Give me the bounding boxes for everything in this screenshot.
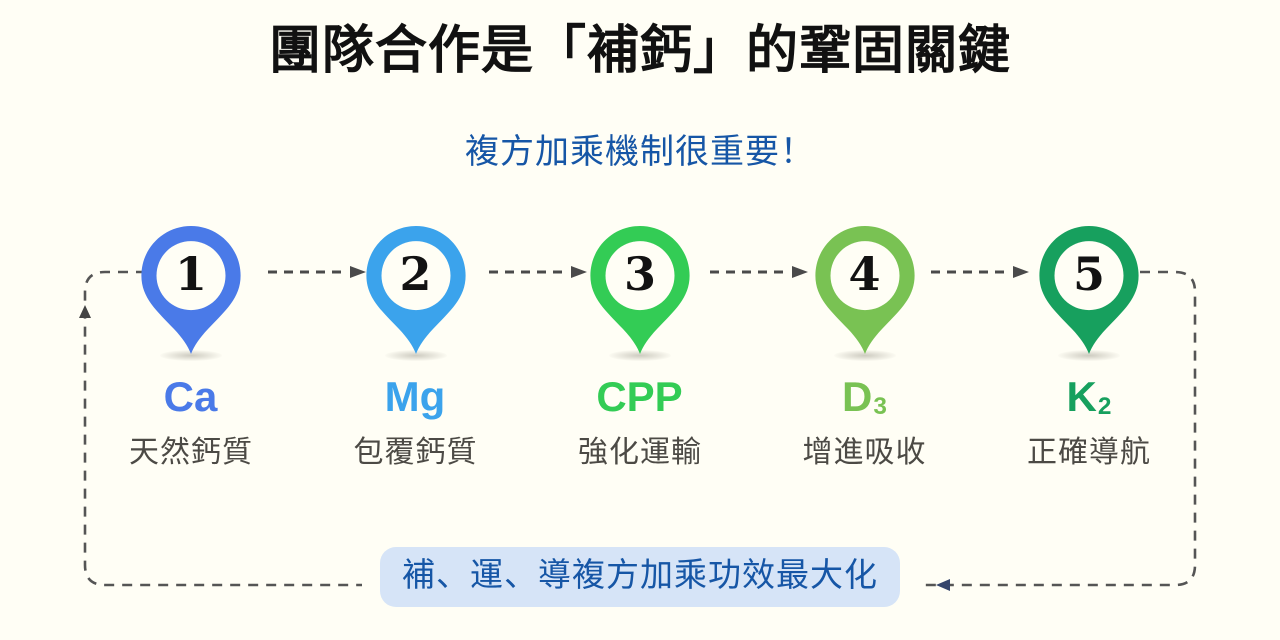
steps-row: 1 Ca 天然鈣質 2 Mg 包覆鈣質 (96, 222, 1184, 512)
nutrient-description-4: 增進吸收 (803, 438, 927, 468)
symbol-subscript: 2 (1098, 393, 1112, 420)
step-item-3[interactable]: 3 CPP 強化運輸 (545, 222, 735, 468)
step-item-5[interactable]: 5 K2 正確導航 (994, 222, 1184, 468)
map-pin-2[interactable]: 2 (361, 222, 471, 362)
nutrient-description-1: 天然鈣質 (129, 438, 253, 468)
nutrient-symbol-1: Ca (164, 376, 219, 418)
step-item-2[interactable]: 2 Mg 包覆鈣質 (321, 222, 511, 468)
nutrient-symbol-2: Mg (385, 376, 447, 418)
symbol-text: D (842, 373, 872, 420)
pin-number-label: 2 (361, 222, 471, 326)
nutrient-description-2: 包覆鈣質 (354, 438, 478, 468)
infographic-canvas: 團隊合作是「補鈣」的鞏固關鍵 複方加乘機制很重要！ (0, 0, 1280, 640)
pin-number-label: 1 (136, 222, 246, 326)
loop-left-arrowhead-up (79, 305, 91, 318)
page-subtitle: 複方加乘機制很重要！ (0, 124, 1280, 173)
nutrient-symbol-5: K2 (1067, 376, 1112, 418)
nutrient-symbol-4: D3 (842, 376, 887, 418)
nutrient-symbol-3: CPP (596, 376, 683, 418)
step-item-1[interactable]: 1 Ca 天然鈣質 (96, 222, 286, 468)
nutrient-description-5: 正確導航 (1027, 438, 1151, 468)
symbol-text: Mg (385, 373, 446, 420)
map-pin-4[interactable]: 4 (810, 222, 920, 362)
pin-number-label: 5 (1034, 222, 1144, 326)
map-pin-3[interactable]: 3 (585, 222, 695, 362)
symbol-text: K (1067, 373, 1097, 420)
map-pin-5[interactable]: 5 (1034, 222, 1144, 362)
nutrient-description-3: 強化運輸 (578, 438, 702, 468)
symbol-text: Ca (164, 373, 218, 420)
page-title: 團隊合作是「補鈣」的鞏固關鍵 (0, 22, 1280, 80)
symbol-subscript: 3 (873, 393, 887, 420)
pin-number-label: 3 (585, 222, 695, 326)
step-item-4[interactable]: 4 D3 增進吸收 (770, 222, 960, 468)
map-pin-1[interactable]: 1 (136, 222, 246, 362)
pin-number-label: 4 (810, 222, 920, 326)
symbol-text: CPP (596, 373, 682, 420)
loop-bottom-arrowhead-left (936, 579, 950, 591)
summary-banner: 補、運、導複方加乘功效最大化 (380, 547, 900, 607)
